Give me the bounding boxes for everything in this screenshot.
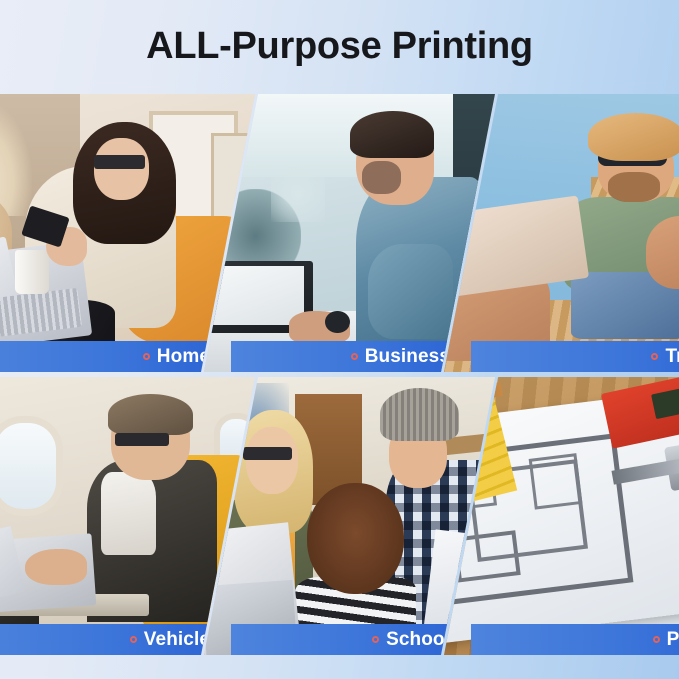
photo-floor-plan-room-2 bbox=[529, 453, 583, 510]
home-eyeglasses-icon bbox=[94, 155, 145, 169]
business-man-sleeve bbox=[368, 244, 453, 339]
ring-bullet-icon bbox=[372, 636, 379, 643]
label-travel: Travel bbox=[665, 346, 679, 368]
business-wristwatch bbox=[325, 311, 349, 333]
vehicle-airplane-window bbox=[0, 416, 63, 516]
home-pampas-grass bbox=[0, 100, 32, 217]
label-photo: Photo bbox=[667, 629, 679, 651]
label-bar-vehicle[interactable]: Vehicle bbox=[0, 624, 228, 655]
label-school: School bbox=[386, 629, 450, 651]
panel-row-top: Home bbox=[0, 94, 679, 372]
vehicle-man-hair bbox=[108, 394, 194, 436]
business-man-hair bbox=[350, 111, 435, 158]
home-coffee-mug bbox=[15, 250, 49, 294]
business-bokeh-light bbox=[271, 166, 326, 222]
label-bar-travel[interactable]: Travel bbox=[471, 341, 679, 372]
ring-bullet-icon bbox=[653, 636, 660, 643]
business-laptop-screen bbox=[210, 266, 304, 324]
vehicle-man-hands bbox=[25, 549, 87, 585]
label-bar-photo[interactable]: Photo bbox=[471, 624, 679, 655]
label-home: Home bbox=[157, 346, 210, 368]
label-bar-home[interactable]: Home bbox=[0, 341, 228, 372]
label-vehicle: Vehicle bbox=[144, 629, 210, 651]
travel-man-beard bbox=[608, 172, 659, 203]
ring-bullet-icon bbox=[143, 353, 150, 360]
header: ALL-Purpose Printing bbox=[0, 0, 679, 92]
panel-row-bottom: Vehicle bbox=[0, 377, 679, 655]
label-business: Business bbox=[365, 346, 450, 368]
eyeglasses-icon bbox=[115, 433, 170, 447]
ring-bullet-icon bbox=[351, 353, 358, 360]
vehicle-man-shirt bbox=[101, 472, 156, 555]
travel-straw-hat bbox=[588, 113, 679, 160]
label-bar-business[interactable]: Business bbox=[231, 341, 468, 372]
label-bar-school[interactable]: School bbox=[231, 624, 468, 655]
school-student-curly-hair bbox=[307, 483, 404, 594]
business-man-beard bbox=[362, 161, 401, 194]
eyeglasses-icon bbox=[243, 447, 292, 461]
ring-bullet-icon bbox=[130, 636, 137, 643]
ring-bullet-icon bbox=[651, 353, 658, 360]
school-man-beanie bbox=[380, 388, 459, 441]
page-title: ALL-Purpose Printing bbox=[146, 25, 533, 68]
school-woman-face bbox=[246, 427, 298, 494]
home-woman-face bbox=[94, 138, 149, 199]
